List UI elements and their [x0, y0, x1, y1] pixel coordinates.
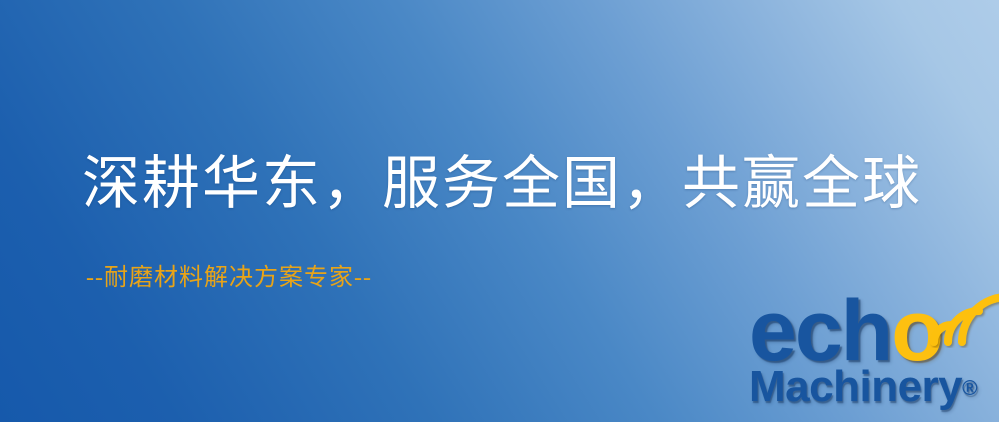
company-logo[interactable]: echo Machinery®: [745, 286, 999, 422]
banner-subtitle: --耐磨材料解决方案专家--: [86, 264, 372, 292]
registered-trademark-icon: ®: [962, 377, 977, 400]
logo-tagline-text: Machinery: [749, 362, 962, 411]
signal-waves-icon: [928, 284, 999, 348]
logo-tagline: Machinery®: [749, 364, 978, 412]
hero-banner: 深耕华东，服务全国，共赢全球 --耐磨材料解决方案专家-- echo Machi…: [0, 0, 999, 422]
banner-headline: 深耕华东，服务全国，共赢全球: [82, 151, 922, 217]
